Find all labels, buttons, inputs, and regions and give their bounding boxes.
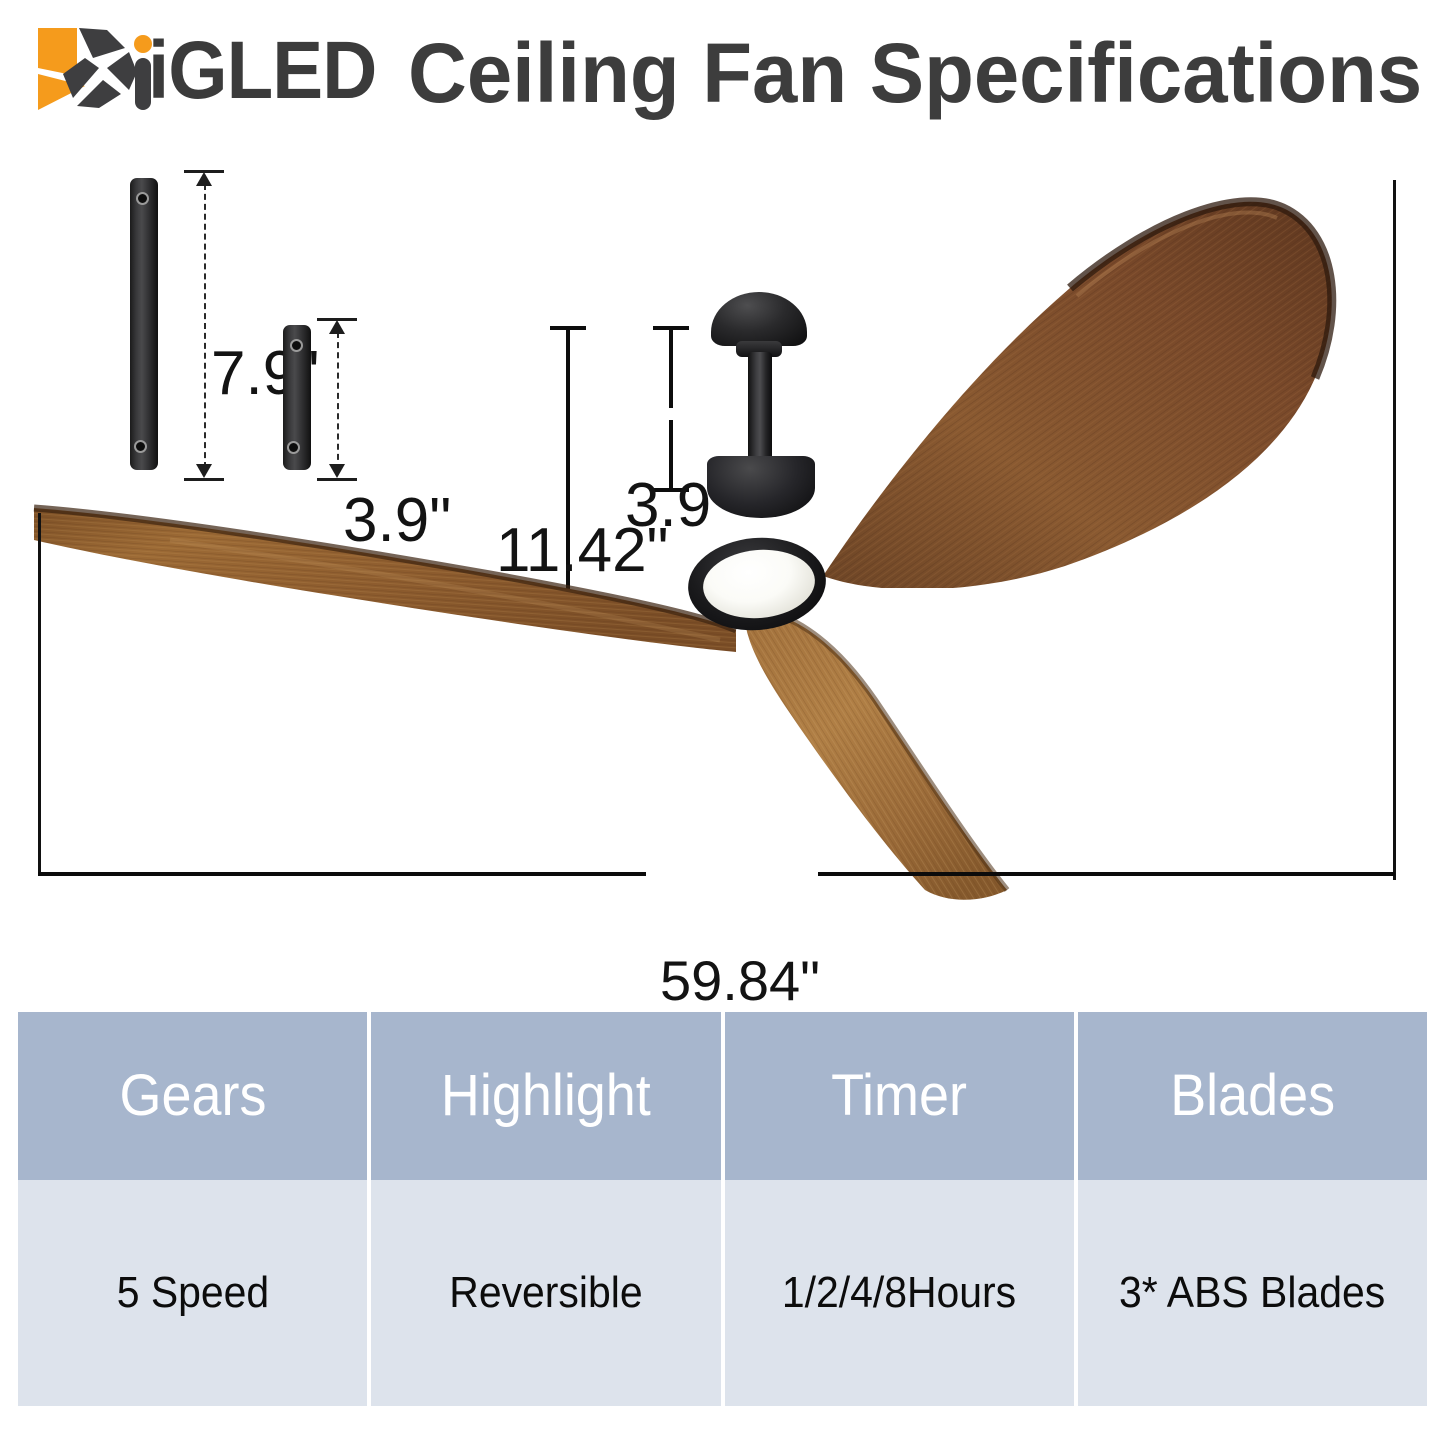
value-label-gears: 5 Speed: [116, 1269, 268, 1317]
table-value-cell: 1/2/4/8Hours: [725, 1180, 1074, 1406]
page-title: Ceiling Fan Specifications: [408, 25, 1422, 121]
table-header-cell: Blades: [1078, 1012, 1427, 1180]
arrow-down-icon: [196, 464, 212, 478]
spec-column-gears: Gears 5 Speed: [18, 1012, 367, 1410]
header-label-gears: Gears: [119, 1065, 266, 1127]
spec-column-blades: Blades 3* ABS Blades: [1078, 1012, 1427, 1410]
specification-sheet: iGLED Ceiling Fan Specifications 7.9" 3.…: [0, 0, 1445, 1445]
dim-label-blade-span: 59.84": [660, 948, 820, 1013]
page-header: iGLED Ceiling Fan Specifications: [0, 0, 1445, 140]
downrod-long-part: [130, 178, 158, 470]
blade-left: [20, 500, 740, 660]
dim-cap: [653, 326, 689, 330]
fan-illustration: 7.9" 3.9" 11.42" 3.9": [0, 120, 1445, 920]
table-value-cell: 5 Speed: [18, 1180, 367, 1406]
dim-line-drop-upper: [669, 328, 673, 408]
dim-line-downrod-short: [337, 332, 339, 470]
dim-cap: [184, 478, 224, 481]
header-label-timer: Timer: [831, 1065, 967, 1127]
arrow-down-icon: [329, 464, 345, 478]
ext-line-left: [38, 513, 41, 875]
spec-column-timer: Timer 1/2/4/8Hours: [725, 1012, 1074, 1410]
table-value-cell: Reversible: [371, 1180, 720, 1406]
dim-cap: [317, 318, 357, 321]
rod-hole-icon: [136, 192, 149, 205]
value-label-highlight: Reversible: [449, 1269, 642, 1317]
spec-column-highlight: Highlight Reversible: [371, 1012, 720, 1410]
dim-line-span-right: [818, 872, 1395, 876]
ext-line-right: [1393, 180, 1396, 880]
downrod-short-part: [283, 325, 311, 470]
table-value-cell: 3* ABS Blades: [1078, 1180, 1427, 1406]
arrow-up-icon: [329, 320, 345, 334]
dim-cap: [184, 170, 224, 173]
arrow-up-icon: [196, 172, 212, 186]
dim-line-span-left: [38, 872, 646, 876]
dim-line-downrod-long: [204, 184, 206, 468]
table-header-cell: Timer: [725, 1012, 1074, 1180]
motor-housing: [707, 456, 815, 518]
value-label-blades: 3* ABS Blades: [1119, 1269, 1385, 1317]
brand-wordmark: iGLED: [148, 27, 376, 115]
blade-bottom: [735, 590, 1055, 910]
header-label-blades: Blades: [1170, 1065, 1335, 1127]
rod-hole-icon: [134, 440, 147, 453]
rod-hole-icon: [290, 339, 303, 352]
ceiling-canopy: [711, 292, 807, 346]
dim-cap: [317, 478, 357, 481]
value-label-timer: 1/2/4/8Hours: [782, 1269, 1016, 1317]
specifications-table: Gears 5 Speed Highlight Reversible Timer…: [18, 1012, 1427, 1410]
aperture-shutter-logo-icon: [33, 24, 153, 112]
table-header-cell: Gears: [18, 1012, 367, 1180]
dim-cap: [550, 326, 586, 330]
downrod: [748, 352, 772, 462]
header-label-highlight: Highlight: [441, 1065, 651, 1127]
table-header-cell: Highlight: [371, 1012, 720, 1180]
rod-hole-icon: [287, 441, 300, 454]
blade-upper-right: [815, 168, 1405, 588]
